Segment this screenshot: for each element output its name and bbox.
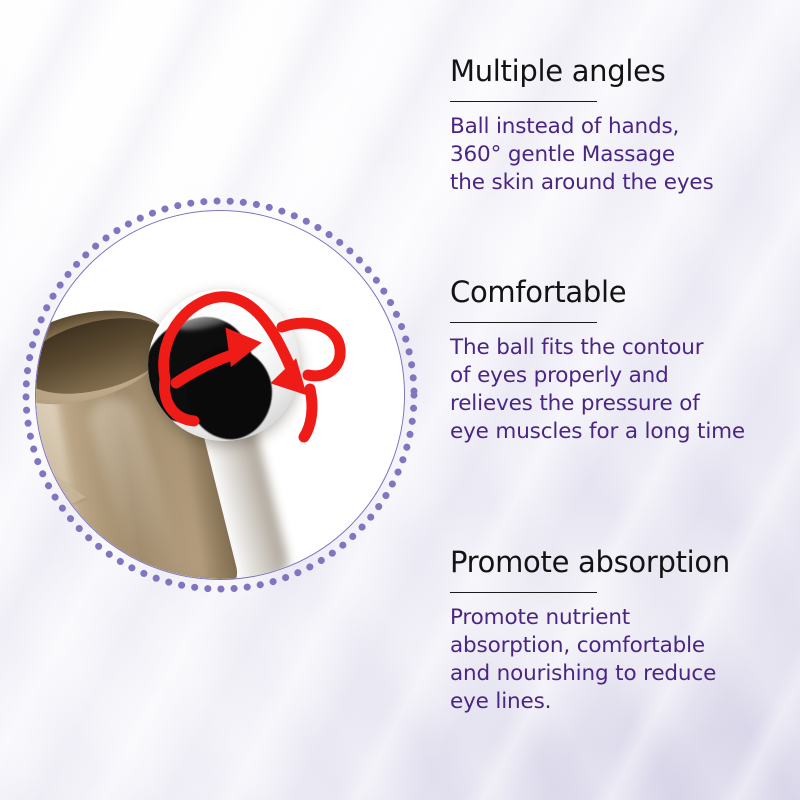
product-photo-medallion: [18, 193, 422, 597]
feature-body-line: and nourishing to reduce: [450, 660, 800, 688]
feature-body-line: absorption, comfortable: [450, 632, 800, 660]
feature-body: The ball fits the contour of eyes proper…: [450, 334, 800, 447]
solid-ring-border: [35, 210, 405, 580]
feature-divider: [450, 592, 597, 593]
feature-body-line: of eyes properly and: [450, 362, 800, 390]
product-photo: [36, 211, 404, 579]
feature-body-line: 360° gentle Massage: [450, 141, 800, 169]
feature-body-line: The ball fits the contour: [450, 334, 800, 362]
feature-title: Comfortable: [450, 276, 800, 310]
feature-body-line: Promote nutrient: [450, 604, 800, 632]
feature-body-line: Ball instead of hands,: [450, 113, 800, 141]
feature-block-promote-absorption: Promote absorption Promote nutrient abso…: [450, 546, 800, 716]
feature-body-line: relieves the pressure of: [450, 390, 800, 418]
feature-body: Ball instead of hands, 360° gentle Massa…: [450, 113, 800, 197]
feature-title: Multiple angles: [450, 55, 800, 89]
feature-divider: [450, 322, 597, 323]
feature-list: Multiple angles Ball instead of hands, 3…: [450, 0, 800, 800]
feature-body-line: eye muscles for a long time: [450, 418, 800, 446]
feature-body: Promote nutrient absorption, comfortable…: [450, 604, 800, 717]
arrowhead-up-right: [225, 323, 264, 367]
feature-body-line: the skin around the eyes: [450, 169, 800, 197]
feature-divider: [450, 101, 597, 102]
feature-body-line: eye lines.: [450, 688, 800, 716]
rotation-arrows-icon: [132, 261, 362, 471]
infographic-canvas: Multiple angles Ball instead of hands, 3…: [0, 0, 800, 800]
feature-title: Promote absorption: [450, 546, 800, 580]
feature-block-multiple-angles: Multiple angles Ball instead of hands, 3…: [450, 55, 800, 197]
feature-block-comfortable: Comfortable The ball fits the contour of…: [450, 276, 800, 446]
